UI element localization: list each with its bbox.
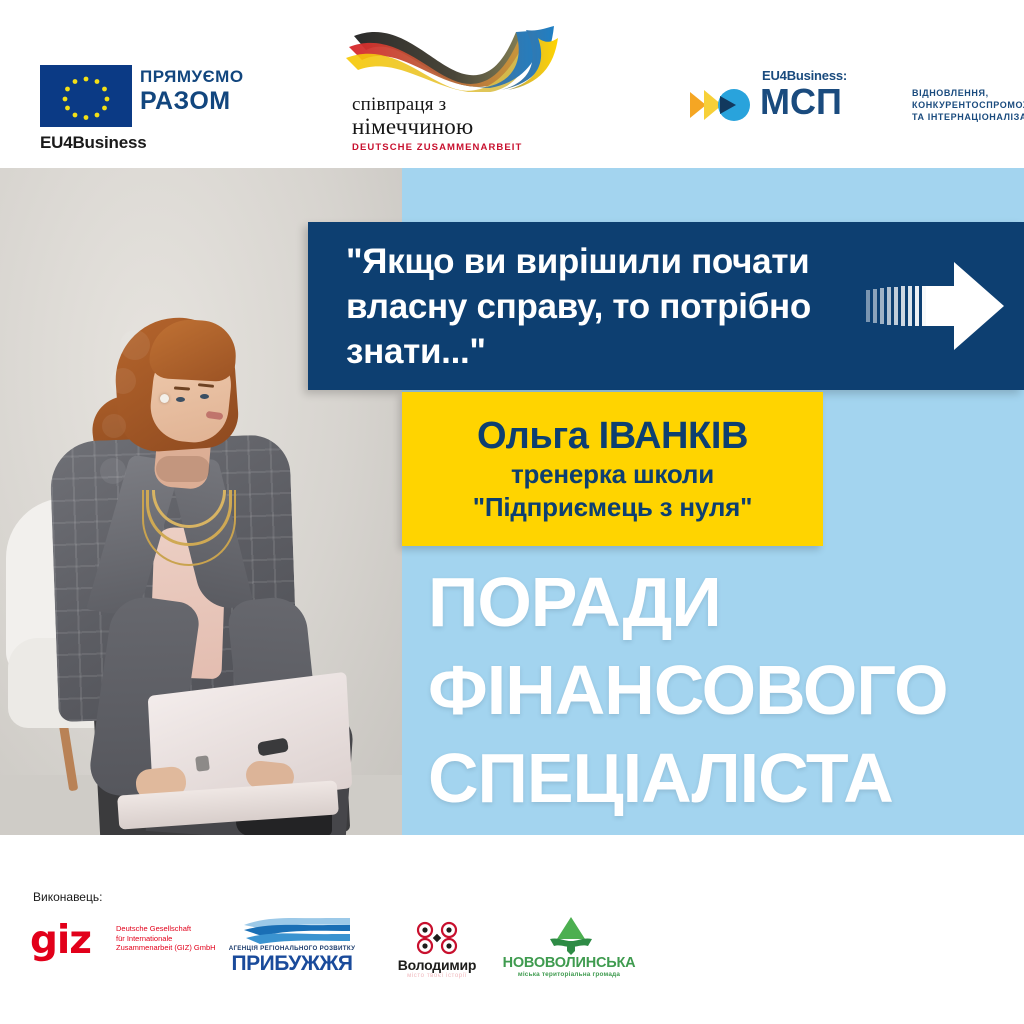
flag-ribbon-icon [340, 22, 570, 92]
eu4business-label: EU4Business [40, 133, 146, 153]
giz-logo: giz Deutsche Gesellschaft für Internatio… [30, 921, 210, 965]
speaker-role: тренерка школи "Підприємець з нуля" [473, 458, 753, 524]
hero-section: "Якщо ви вирішили почати власну справу, … [0, 168, 1024, 835]
eu-stars-icon [40, 65, 132, 127]
hair-curl [110, 368, 136, 394]
tree-icon [544, 917, 598, 955]
cooperation-line2: німеччиною [352, 114, 562, 140]
quote-banner: "Якщо ви вирішили почати власну справу, … [308, 222, 1024, 390]
cooperation-line1: співпраця з [352, 94, 562, 116]
novovolynska-name: НОВОВОЛИНСЬКА [500, 955, 638, 971]
giz-fullname: Deutsche Gesellschaft für Internationale… [116, 924, 226, 953]
neck-shadow [156, 456, 210, 482]
hair-curl [100, 458, 126, 484]
volodymyr-logo: Володимир місто твоєї історії [382, 919, 492, 981]
eu-slogan-line1: ПРЯМУЄМО [140, 66, 244, 87]
german-ukrainian-cooperation-logo: співпраця з німеччиною DEUTSCHE ZUSAMMEN… [340, 22, 570, 150]
speaker-name-card: Ольга ІВАНКІВ тренерка школи "Підприємец… [402, 392, 823, 546]
speaker-name: Ольга ІВАНКІВ [477, 414, 748, 458]
eu-logo-slogan: ПРЯМУЄМО РАЗОМ [140, 66, 244, 115]
arrow-right-icon [860, 256, 1010, 356]
msp-mark-icon [690, 88, 752, 122]
novovolynska-subtitle: міська територіальна громада [500, 971, 638, 978]
logo-header-bar: ПРЯМУЄМО РАЗОМ EU4Business [0, 0, 1024, 168]
eye-back [176, 397, 185, 402]
eu-slogan-line2: РАЗОМ [140, 87, 244, 115]
eu-flag-icon [40, 65, 132, 127]
eu4business-msp-logo: EU4Business: МСП ВІДНОВЛЕННЯ, КОНКУРЕНТО… [690, 68, 990, 140]
hair-curl [102, 414, 126, 438]
prybuzhzhia-eyebrow: АГЕНЦІЯ РЕГІОНАЛЬНОГО РОЗВИТКУ [222, 945, 362, 952]
executor-label: Виконавець: [33, 890, 102, 904]
cooperation-subline: DEUTSCHE ZUSAMMENARBEIT [352, 142, 572, 153]
hair-curl [120, 330, 150, 360]
novovolynska-logo: НОВОВОЛИНСЬКА міська територіальна грома… [500, 917, 638, 983]
eye-front [200, 394, 209, 399]
eu4business-logo: ПРЯМУЄМО РАЗОМ EU4Business [40, 65, 290, 145]
waves-icon [242, 917, 352, 945]
volodymyr-tagline: місто твоєї історії [382, 973, 492, 979]
msp-acronym: МСП [760, 83, 842, 121]
volodymyr-name: Володимир [382, 957, 492, 973]
poster-canvas: ПРЯМУЄМО РАЗОМ EU4Business [0, 0, 1024, 1024]
page-title: ПОРАДИ ФІНАНСОВОГО СПЕЦІАЛІСТА [428, 558, 1024, 822]
prybuzhzhia-name: ПРИБУЖЖЯ [222, 952, 362, 976]
msp-description: ВІДНОВЛЕННЯ, КОНКУРЕНТОСПРОМОЖНІСТЬ ТА І… [912, 87, 1024, 123]
prybuzhzhia-logo: АГЕНЦІЯ РЕГІОНАЛЬНОГО РОЗВИТКУ ПРИБУЖЖЯ [222, 917, 362, 975]
earring [160, 394, 169, 403]
footer-partners-bar: Виконавець: giz Deutsche Gesellschaft fü… [0, 835, 1024, 1024]
laptop-logo [195, 755, 210, 771]
ornament-icon [407, 919, 467, 957]
quote-text: "Якщо ви вирішили почати власну справу, … [308, 229, 860, 384]
giz-wordmark: giz [30, 921, 91, 961]
